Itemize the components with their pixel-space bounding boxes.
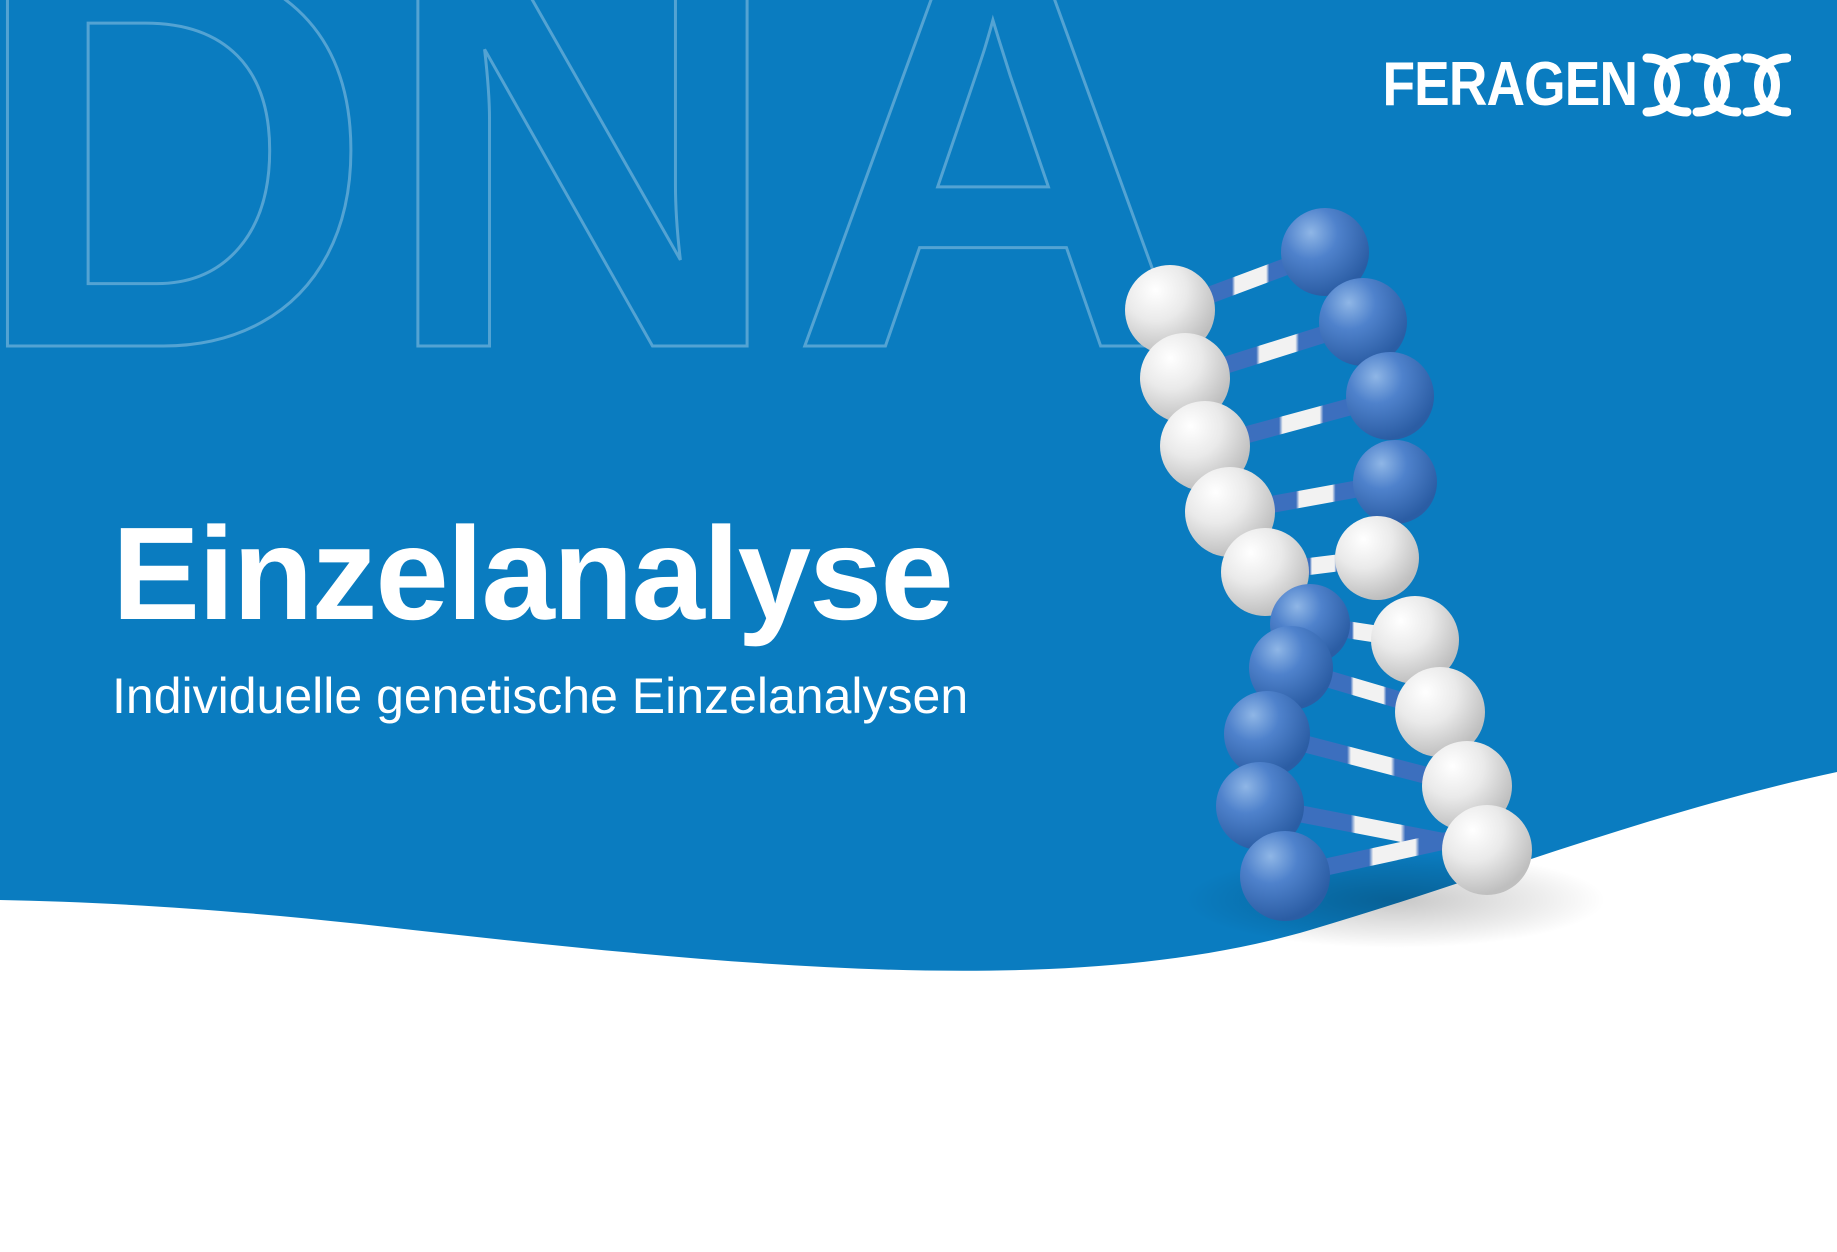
page-title: Einzelanalyse: [112, 505, 1172, 644]
hero-text-block: Einzelanalyse Individuelle genetische Ei…: [112, 505, 1172, 726]
dna-double-helix-illustration: [1095, 200, 1655, 960]
feragen-logo[interactable]: FERAGEN: [1341, 52, 1791, 118]
logo-wordmark: FERAGEN: [1382, 54, 1637, 116]
dna-right-strand: [1281, 208, 1532, 895]
page-subtitle: Individuelle genetische Einzelanalysen: [112, 666, 1172, 726]
dna-analysis-banner: DNA FERAGEN Einzelanalyse Individuelle g…: [0, 0, 1837, 1252]
dna-helix-icon: [1641, 52, 1791, 118]
